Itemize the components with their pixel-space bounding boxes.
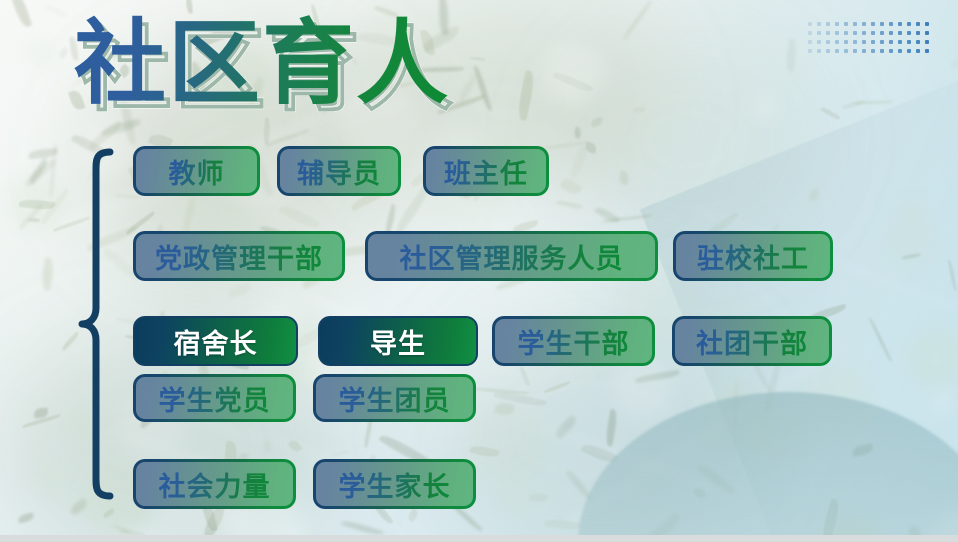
leaf-shape [40, 257, 55, 291]
role-box[interactable]: 学生团员 [313, 374, 476, 422]
role-box[interactable]: 社区管理服务人员 [365, 231, 658, 281]
leaf-shape [559, 176, 582, 197]
dot [925, 31, 929, 35]
dot [889, 31, 893, 35]
role-box-label: 社区管理服务人员 [400, 237, 624, 276]
dot [916, 40, 920, 44]
dot [907, 31, 911, 35]
background-blotch [496, 483, 529, 516]
role-box[interactable]: 社会力量 [133, 459, 296, 509]
role-box-label: 学生团员 [339, 379, 451, 418]
dot [898, 31, 902, 35]
page-title-text: 社区育人 [74, 10, 450, 117]
dot [862, 22, 866, 26]
dot [826, 40, 830, 44]
leaf-shape [590, 116, 604, 127]
bottom-bar [0, 535, 958, 542]
dot [916, 31, 920, 35]
leaf-shape [29, 148, 58, 159]
role-box-inner: 班主任 [426, 149, 546, 193]
role-box-label: 导生 [370, 322, 426, 361]
leaf-shape [584, 141, 597, 153]
dot-grid-decoration [808, 22, 934, 58]
leaf-shape [28, 217, 41, 223]
dot [844, 31, 848, 35]
dot [925, 49, 929, 53]
role-box-label: 班主任 [444, 152, 528, 191]
dot [916, 22, 920, 26]
role-box[interactable]: 学生家长 [313, 459, 476, 509]
background-blotch [541, 42, 603, 104]
dot [853, 22, 857, 26]
role-box-label: 宿舍长 [174, 322, 258, 361]
leaf-shape [574, 127, 581, 139]
dot [844, 22, 848, 26]
dot [808, 49, 812, 53]
dot [871, 22, 875, 26]
dot [889, 40, 893, 44]
leaf-shape [633, 106, 645, 111]
leaf-shape [619, 169, 630, 185]
dot [817, 49, 821, 53]
leaf-shape [566, 145, 590, 179]
dot [889, 22, 893, 26]
leaf-shape [621, 0, 654, 41]
leaf-shape [48, 144, 59, 199]
dot [835, 40, 839, 44]
dot [898, 40, 902, 44]
role-box-label: 社团干部 [696, 322, 808, 361]
background-blotch [7, 174, 66, 233]
dot [907, 22, 911, 26]
leaf-shape [21, 414, 61, 428]
dot [889, 49, 893, 53]
role-box-inner: 学生干部 [495, 319, 652, 363]
leaf-shape [605, 409, 619, 447]
dot [817, 22, 821, 26]
leaf-shape [553, 415, 579, 440]
role-box[interactable]: 教师 [133, 146, 260, 196]
dot [853, 31, 857, 35]
leaf-shape [543, 381, 571, 394]
role-box-inner: 学生党员 [136, 377, 293, 419]
role-box[interactable]: 社团干部 [672, 316, 832, 366]
leaf-shape [10, 0, 32, 29]
dot [880, 49, 884, 53]
leaf-shape [27, 158, 50, 186]
leaf-shape [552, 69, 593, 94]
dot [808, 31, 812, 35]
dot [835, 31, 839, 35]
leaf-shape [594, 205, 620, 226]
leaf-shape [470, 56, 486, 62]
leaf-shape [555, 199, 581, 210]
dot [880, 22, 884, 26]
role-box-inner: 教师 [136, 149, 257, 193]
dot [817, 31, 821, 35]
page-title: 社区育人 社区育人 社区育人 [74, 14, 450, 113]
dot [880, 31, 884, 35]
left-curly-brace-icon [76, 148, 118, 500]
dot [898, 22, 902, 26]
role-box[interactable]: 党政管理干部 [133, 231, 345, 281]
background-blotch [467, 405, 547, 485]
dot [844, 49, 848, 53]
dot [853, 49, 857, 53]
leaf-shape [34, 407, 48, 418]
leaf-shape [473, 65, 492, 112]
leaf-shape [515, 69, 536, 120]
dot [862, 31, 866, 35]
leaf-shape [102, 508, 116, 518]
leaf-shape [39, 189, 71, 225]
role-box[interactable]: 班主任 [423, 146, 549, 196]
leaf-shape [263, 439, 272, 453]
leaf-shape [265, 129, 310, 147]
dot [871, 31, 875, 35]
role-box[interactable]: 辅导员 [277, 146, 401, 196]
dot [907, 49, 911, 53]
leaf-shape [69, 498, 89, 515]
role-box-inner: 党政管理干部 [136, 234, 342, 278]
background-blotch [205, 512, 226, 533]
dot [808, 22, 812, 26]
leaf-shape [115, 193, 141, 199]
role-box-inner: 社会力量 [136, 462, 293, 506]
leaf-shape [17, 202, 45, 229]
dot [907, 40, 911, 44]
leaf-shape [473, 386, 529, 396]
leaf-shape [470, 444, 501, 459]
role-box[interactable]: 学生党员 [133, 374, 296, 422]
dot [853, 40, 857, 44]
role-box-label: 学生党员 [159, 379, 271, 418]
leaf-shape [288, 438, 303, 453]
leaf-shape [529, 492, 548, 502]
leaf-shape [181, 197, 197, 234]
dot [925, 40, 929, 44]
role-box[interactable]: 驻校社工 [673, 231, 833, 281]
leaf-shape [543, 518, 580, 532]
dot [844, 40, 848, 44]
dot [808, 40, 812, 44]
leaf-shape [44, 3, 68, 19]
role-box[interactable]: 学生干部 [492, 316, 655, 366]
role-box[interactable]: 导生 [318, 316, 478, 366]
dot [862, 49, 866, 53]
leaf-shape [457, 74, 478, 103]
role-box[interactable]: 宿舍长 [133, 316, 298, 366]
role-box-inner: 社团干部 [675, 319, 829, 363]
role-box-inner: 驻校社工 [676, 234, 830, 278]
leaf-shape [57, 46, 70, 59]
role-box-inner: 学生团员 [316, 377, 473, 419]
dot [925, 22, 929, 26]
dot [916, 49, 920, 53]
dot [871, 40, 875, 44]
role-box-label: 驻校社工 [697, 237, 809, 276]
dot [826, 22, 830, 26]
leaf-shape [18, 512, 35, 524]
dot [880, 40, 884, 44]
background-blotch [20, 37, 44, 61]
role-box-inner: 辅导员 [280, 149, 398, 193]
role-box-inner: 社区管理服务人员 [368, 234, 655, 278]
role-box-label: 社会力量 [159, 465, 271, 504]
role-box-label: 党政管理干部 [155, 237, 323, 276]
leaf-shape [494, 401, 515, 416]
dot [817, 40, 821, 44]
role-box-label: 学生家长 [339, 465, 451, 504]
leaf-shape [519, 366, 530, 387]
leaf-shape [493, 389, 546, 409]
slide-canvas: 社区育人 社区育人 社区育人 教师辅导员班主任党政管理干部社区管理服务人员驻校社… [0, 0, 958, 542]
dot [826, 49, 830, 53]
role-box-label: 学生干部 [518, 322, 630, 361]
role-box-label: 教师 [169, 152, 225, 191]
background-blotch [508, 124, 528, 144]
leaf-shape [278, 201, 321, 231]
dot [871, 49, 875, 53]
dot [835, 49, 839, 53]
leaf-shape [23, 158, 59, 187]
role-box-label: 辅导员 [297, 152, 381, 191]
dot [826, 31, 830, 35]
leaf-shape [112, 523, 130, 535]
leaf-shape [86, 120, 124, 151]
background-blotch [29, 462, 60, 493]
dot [898, 49, 902, 53]
leaf-shape [407, 508, 420, 522]
dot [835, 22, 839, 26]
leaf-shape [18, 198, 55, 211]
role-box-inner: 学生家长 [316, 462, 473, 506]
leaf-shape [330, 450, 350, 457]
background-blotch [37, 45, 56, 64]
leaf-shape [227, 280, 253, 298]
dot [862, 40, 866, 44]
